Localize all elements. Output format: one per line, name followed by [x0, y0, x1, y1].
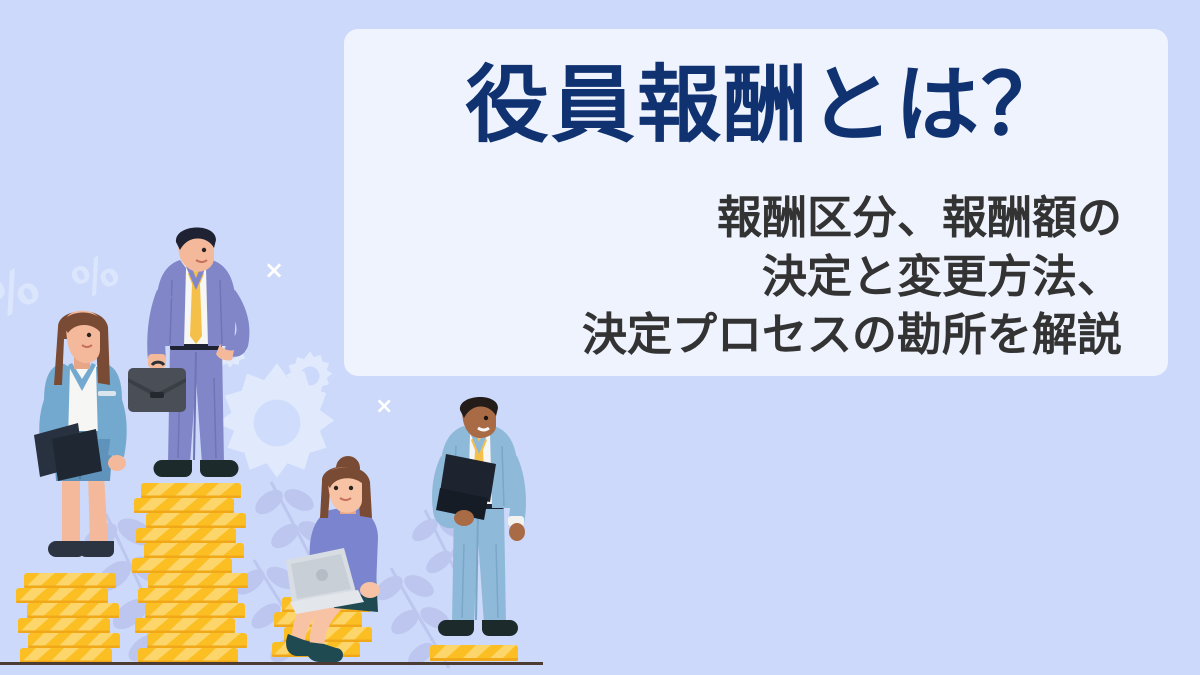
ground-line [0, 662, 543, 665]
figure-woman-laptop-sitting [278, 462, 398, 667]
subtitle-line-1: 報酬区分、報酬額の [362, 189, 1122, 248]
subtitle-line-3: 決定プロセスの勘所を解説 [362, 306, 1122, 365]
subtitle-line-2: 決定と変更方法、 [362, 248, 1122, 307]
title-card: 役員報酬とは？ 報酬区分、報酬額の 決定と変更方法、 決定プロセスの勘所を解説 [344, 29, 1168, 376]
figure-businesswoman-standing [18, 305, 138, 580]
page-subtitle: 報酬区分、報酬額の 決定と変更方法、 決定プロセスの勘所を解説 [362, 189, 1122, 365]
figure-businessman-briefcase [128, 228, 268, 490]
sparkle-cross-icon: × [375, 396, 393, 418]
page-title: 役員報酬とは？ [396, 61, 1136, 150]
percent-symbol-icon: % [66, 248, 126, 308]
poster-canvas: % % [0, 0, 1200, 675]
coin-stack-tall [132, 483, 250, 665]
figure-businessman-folder [420, 398, 540, 650]
coin-stack-left [16, 573, 121, 665]
